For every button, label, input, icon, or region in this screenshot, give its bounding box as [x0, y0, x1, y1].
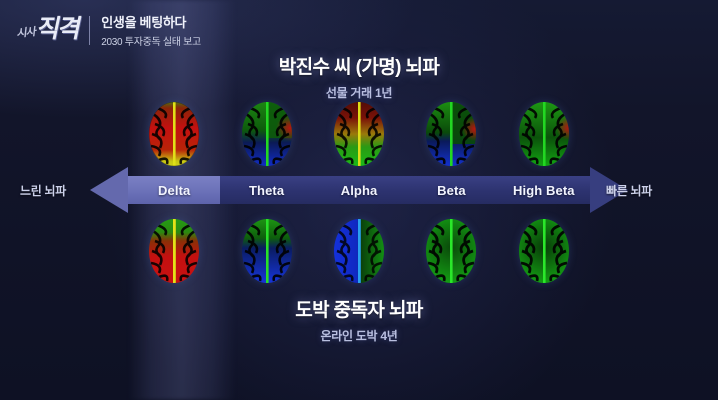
- brainmap-cell-top-theta: [220, 98, 312, 170]
- band-label-theta[interactable]: Theta: [220, 176, 312, 204]
- brainmap-top-beta: [416, 98, 486, 170]
- brainmap-cell-top-high-beta: [498, 98, 590, 170]
- logo-big-text: 직격: [35, 18, 82, 42]
- brainmap-cell-bottom-beta: [405, 213, 497, 288]
- bottom-panel-heading: 도박 중독자 뇌파 온라인 도박 4년: [0, 295, 718, 344]
- bottom-panel-subtitle: 온라인 도박 4년: [0, 327, 718, 344]
- band-label-alpha[interactable]: Alpha: [313, 176, 405, 204]
- brainmap-bottom-delta: [139, 215, 209, 287]
- brainmap-bottom-high-beta: [509, 215, 579, 287]
- brainmap-cell-bottom-high-beta: [498, 213, 590, 288]
- band-label-delta[interactable]: Delta: [128, 176, 220, 204]
- slow-arrow-icon: [90, 167, 128, 213]
- brainmap-bottom-beta: [416, 215, 486, 287]
- frequency-axis-band: 느린 뇌파 빠른 뇌파 Delta Theta Alpha Beta High …: [0, 176, 718, 204]
- logo-taglines: 인생을 베팅하다 2030 투자중독 실태 보고: [101, 12, 201, 48]
- brainmap-bottom-theta: [232, 215, 302, 287]
- brainmap-top-theta: [232, 98, 302, 170]
- band-label-high-beta[interactable]: High Beta: [498, 176, 590, 204]
- axis-left-label: 느린 뇌파: [20, 176, 86, 204]
- logo-small-text: 시사: [16, 23, 36, 41]
- top-brainmap-row: [128, 98, 590, 170]
- axis-right-label: 빠른 뇌파: [606, 176, 706, 204]
- brainmap-cell-top-beta: [405, 98, 497, 170]
- logo-tagline: 인생을 베팅하다: [101, 12, 201, 31]
- brainmap-top-delta: [139, 98, 209, 170]
- brainwave-comparison-screen: 시사 직격 인생을 베팅하다 2030 투자중독 실태 보고 박진수 씨 (가명…: [0, 0, 718, 400]
- brainmap-cell-top-delta: [128, 98, 220, 170]
- band-track: Delta Theta Alpha Beta High Beta: [128, 176, 590, 204]
- bottom-brainmap-row: [128, 213, 590, 288]
- logo-subtagline: 2030 투자중독 실태 보고: [101, 33, 201, 48]
- brainmap-cell-top-alpha: [313, 98, 405, 170]
- program-logo: 시사 직격 인생을 베팅하다 2030 투자중독 실태 보고: [18, 12, 201, 48]
- logo-divider: [89, 16, 90, 45]
- brainmap-bottom-alpha: [324, 215, 394, 287]
- top-panel-title: 박진수 씨 (가명) 뇌파: [0, 52, 718, 79]
- brainmap-cell-bottom-theta: [220, 213, 312, 288]
- band-label-beta[interactable]: Beta: [405, 176, 497, 204]
- brainmap-top-high-beta: [509, 98, 579, 170]
- brainmap-cell-bottom-delta: [128, 213, 220, 288]
- brainmap-cell-bottom-alpha: [313, 213, 405, 288]
- logo-mark: 시사 직격: [15, 18, 81, 42]
- top-panel-heading: 박진수 씨 (가명) 뇌파 선물 거래 1년: [0, 52, 718, 101]
- bottom-panel-title: 도박 중독자 뇌파: [0, 295, 718, 322]
- brainmap-top-alpha: [324, 98, 394, 170]
